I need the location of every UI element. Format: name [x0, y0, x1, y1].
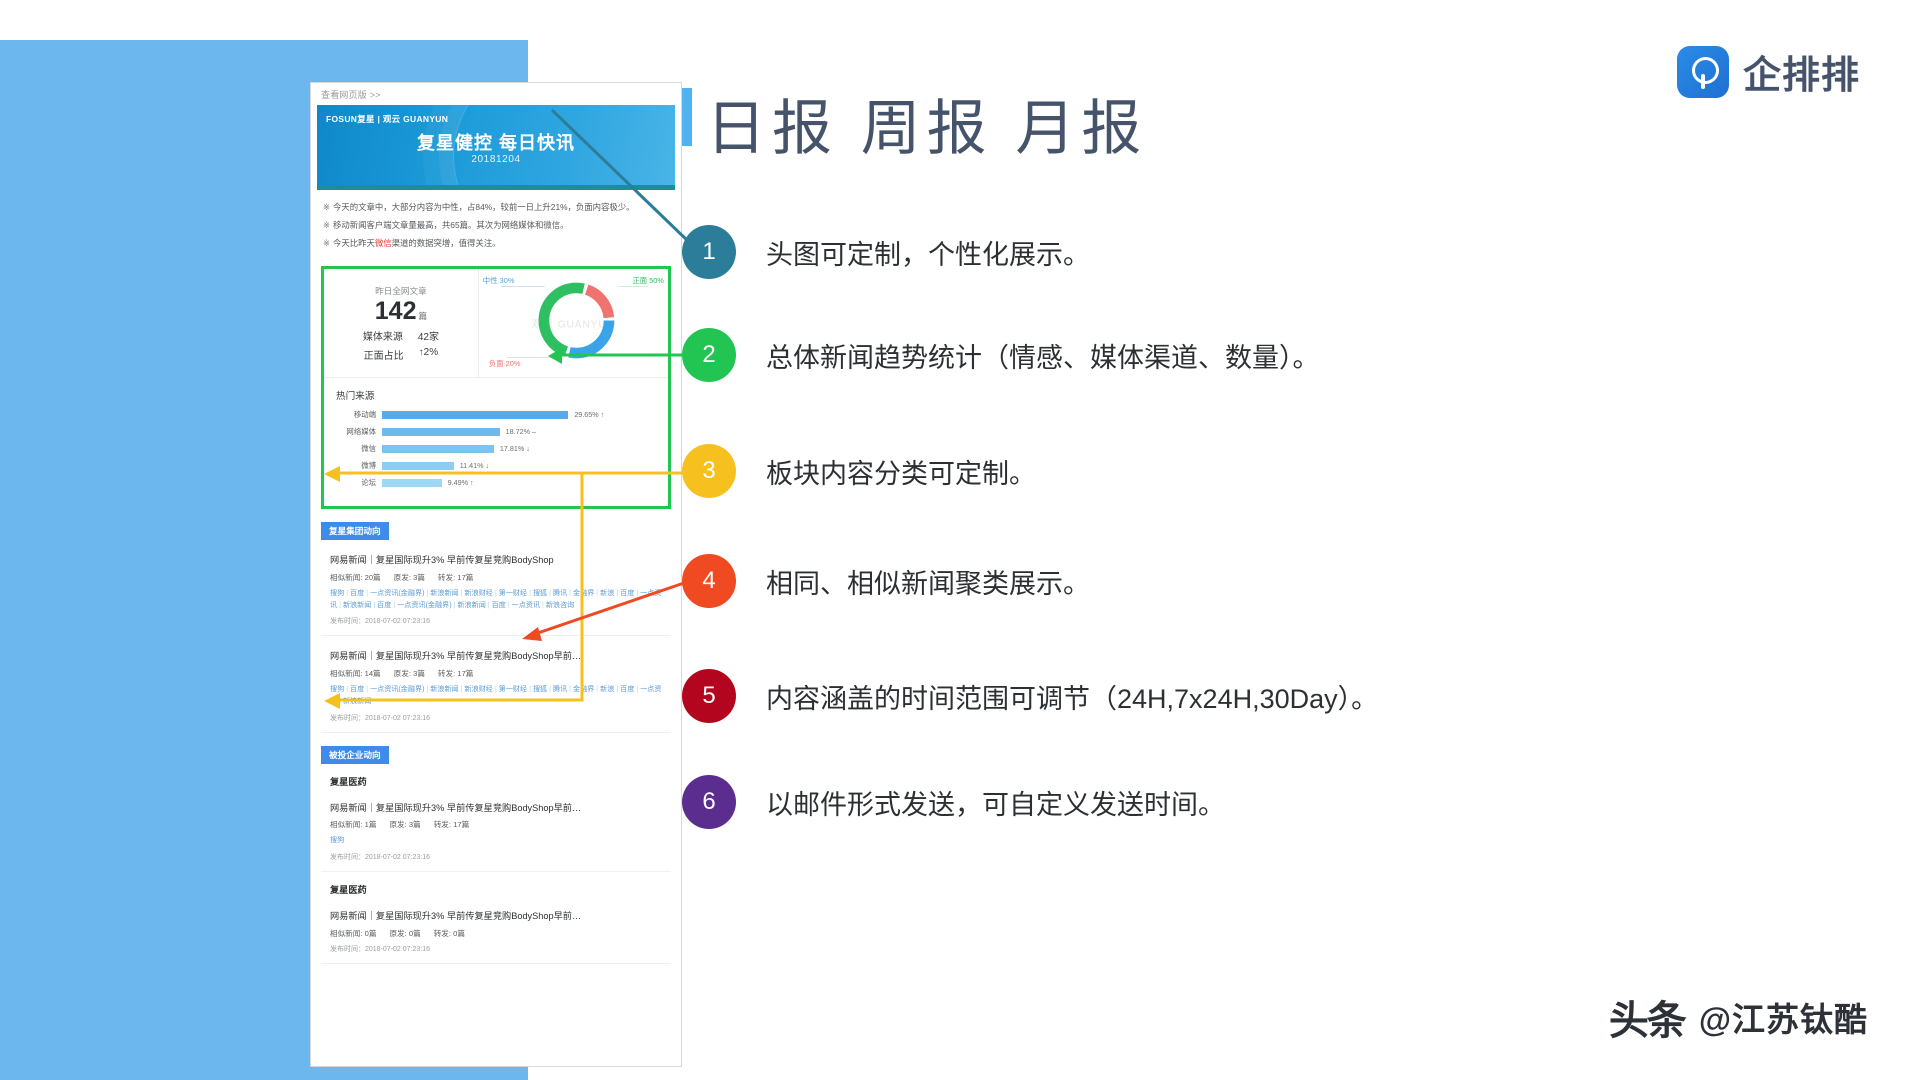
- bar-track: 17.81% ↓: [382, 445, 656, 453]
- bar-row: 网络媒体 18.72% –: [336, 426, 656, 437]
- footer-watermark: 头条 @江苏钛酷: [1609, 988, 1868, 1046]
- source-link[interactable]: 一点资讯(金融界): [370, 685, 424, 693]
- meta-similar: 相似新闻: 14篇: [330, 668, 381, 679]
- meta-repost: 转发: 17篇: [438, 572, 473, 583]
- feature-text: 头图可定制，个性化展示。: [766, 233, 1090, 272]
- news-meta: 相似新闻: 20篇 原发: 3篇 转发: 17篇: [330, 572, 662, 583]
- source-link[interactable]: 金融界: [573, 589, 594, 597]
- source-link[interactable]: 新浪新闻: [343, 601, 371, 609]
- news-publish-time: 发布时间：2018-07-02 07:23:16: [330, 713, 662, 723]
- feature-text: 内容涵盖的时间范围可调节（24H,7x24H,30Day）。: [766, 677, 1378, 716]
- source-link[interactable]: 搜狗: [330, 685, 344, 693]
- bar-value-label: 11.41% ↓: [460, 461, 489, 470]
- source-link[interactable]: 新浪咨询: [546, 601, 574, 609]
- news-publish-time: 发布时间：2018-07-02 07:23:16: [330, 852, 662, 862]
- bar-value-label: 9.49% ↑: [448, 478, 474, 487]
- source-link[interactable]: 一点资讯: [512, 601, 540, 609]
- banner-title: 复星健控 每日快讯: [317, 129, 675, 155]
- stats-card: 昨日全网文章 142篇 媒体来源 42家 正面占比 ↑2% 观云 GUANYUN: [321, 266, 671, 509]
- feature-item-6[interactable]: 6 以邮件形式发送，可自定义发送时间。: [682, 775, 1225, 829]
- feature-text: 板块内容分类可定制。: [766, 452, 1036, 491]
- bullet-text: 移动新闻客户端文章量最高，共65篇。其次为网络媒体和微信。: [333, 219, 568, 232]
- title-accent-bar: [682, 88, 692, 146]
- source-link[interactable]: 腾讯: [553, 685, 567, 693]
- feature-item-2[interactable]: 2 总体新闻趋势统计（情感、媒体渠道、数量）。: [682, 328, 1320, 382]
- news-source-links[interactable]: 搜狗|百度|一点资讯(金融界)|新浪新闻|新浪财经|第一财经|搜狐|腾讯|金融界…: [330, 588, 662, 611]
- meta-original: 原发: 0篇: [389, 928, 420, 939]
- stats-row-key: 正面占比: [364, 347, 410, 362]
- mock-topbar: 查看网页版 >>: [311, 83, 681, 105]
- bar-value-label: 18.72% –: [506, 427, 536, 436]
- source-link[interactable]: 第一财经: [499, 685, 527, 693]
- bar-row: 移动端 29.65% ↑: [336, 409, 656, 420]
- email-report-mock: 查看网页版 >> FOSUN复星 | 观云 GUANYUN 复星健控 每日快讯 …: [310, 82, 682, 1067]
- stats-big-number: 142: [375, 297, 417, 325]
- bar-fill: [382, 428, 500, 436]
- source-link[interactable]: 新浪新闻: [430, 685, 458, 693]
- decorative-white-notch: [0, 0, 528, 40]
- feature-badge: 4: [682, 554, 736, 608]
- feature-item-5[interactable]: 5 内容涵盖的时间范围可调节（24H,7x24H,30Day）。: [682, 669, 1378, 723]
- bar-row: 微博 11.41% ↓: [336, 460, 656, 471]
- meta-repost: 转发: 17篇: [434, 819, 469, 830]
- news-card[interactable]: 网易新闻｜复星国际现升3% 早前传复星竞购BodyShop早前… 相似新闻: 0…: [321, 903, 671, 964]
- donut-svg: [534, 278, 620, 364]
- feature-badge: 2: [682, 328, 736, 382]
- feature-badge: 3: [682, 444, 736, 498]
- source-link[interactable]: 百度: [350, 589, 364, 597]
- bullet-text: 今天比昨天微信渠道的数据突增，值得关注。: [333, 237, 501, 250]
- feature-text: 相同、相似新闻聚类展示。: [766, 562, 1090, 601]
- source-link[interactable]: 一点资讯(金融界): [370, 589, 424, 597]
- source-link[interactable]: 搜狗: [330, 836, 344, 844]
- toutiao-label: 头条: [1609, 988, 1685, 1046]
- author-handle: @江苏钛酷: [1699, 993, 1868, 1041]
- stats-label: 昨日全网文章: [375, 285, 427, 297]
- stats-summary: 昨日全网文章 142篇 媒体来源 42家 正面占比 ↑2%: [324, 269, 479, 377]
- news-title[interactable]: 网易新闻｜复星国际现升3% 早前传复星竞购BodyShop早前…: [330, 650, 662, 663]
- stats-top: 昨日全网文章 142篇 媒体来源 42家 正面占比 ↑2% 观云 GUANYUN: [324, 269, 668, 377]
- company-name: 复星医药: [330, 882, 681, 896]
- banner-date: 20181204: [317, 154, 675, 165]
- source-link[interactable]: 新浪新闻: [430, 589, 458, 597]
- news-meta: 相似新闻: 1篇 原发: 3篇 转发: 17篇: [330, 819, 662, 830]
- meta-similar: 相似新闻: 1篇: [330, 819, 376, 830]
- stats-big-wrap: 142篇: [375, 299, 427, 324]
- feature-text: 以邮件形式发送，可自定义发送时间。: [766, 783, 1225, 822]
- bar-track: 11.41% ↓: [382, 462, 656, 470]
- news-card[interactable]: 网易新闻｜复星国际现升3% 早前传复星竞购BodyShop早前… 相似新闻: 1…: [321, 795, 671, 873]
- donut-label-negative: 负面 20%: [489, 358, 521, 369]
- source-link[interactable]: 第一财经: [499, 589, 527, 597]
- meta-similar: 相似新闻: 0篇: [330, 928, 376, 939]
- source-link[interactable]: 搜狐: [533, 685, 547, 693]
- blue-strip-left: [0, 398, 310, 1080]
- stats-row-value: ↑2%: [419, 347, 438, 362]
- bar-category-label: 微博: [336, 460, 382, 471]
- source-link[interactable]: 一点资讯(金融界): [397, 601, 451, 609]
- feature-badge: 6: [682, 775, 736, 829]
- page-title: 日报 周报 月报: [706, 80, 1147, 167]
- meta-similar: 相似新闻: 20篇: [330, 572, 381, 583]
- feature-item-1[interactable]: 1 头图可定制，个性化展示。: [682, 225, 1090, 279]
- stats-row: 媒体来源 42家: [363, 328, 439, 343]
- meta-original: 原发: 3篇: [394, 572, 425, 583]
- company-name: 复星医药: [330, 774, 681, 788]
- source-link[interactable]: 百度: [350, 685, 364, 693]
- source-link[interactable]: 新浪新闻: [457, 601, 485, 609]
- donut-label-neutral: 中性 30%: [483, 275, 515, 286]
- source-link[interactable]: 搜狗: [330, 589, 344, 597]
- news-source-links[interactable]: 搜狗: [330, 835, 662, 847]
- bar-fill: [382, 411, 568, 419]
- summary-bullets: ※ 今天的文章中，大部分内容为中性，占84%，较前一日上升21%，负面内容极少。…: [311, 190, 681, 264]
- stats-row: 正面占比 ↑2%: [364, 347, 438, 362]
- meta-original: 原发: 3篇: [394, 668, 425, 679]
- bar-category-label: 论坛: [336, 477, 382, 488]
- feature-item-4[interactable]: 4 相同、相似新闻聚类展示。: [682, 554, 1090, 608]
- source-link[interactable]: 百度: [620, 589, 634, 597]
- bar-row: 微信 17.81% ↓: [336, 443, 656, 454]
- report-banner: FOSUN复星 | 观云 GUANYUN 复星健控 每日快讯 20181204: [317, 105, 675, 185]
- callout-line-neutral: [501, 286, 545, 287]
- source-link[interactable]: 搜狐: [533, 589, 547, 597]
- bullet-item: ※ 今天的文章中，大部分内容为中性，占84%，较前一日上升21%，负面内容极少。: [323, 201, 667, 214]
- news-publish-time: 发布时间：2018-07-02 07:23:16: [330, 616, 662, 626]
- bar-category-label: 微信: [336, 443, 382, 454]
- news-meta: 相似新闻: 0篇 原发: 0篇 转发: 0篇: [330, 928, 662, 939]
- feature-text: 总体新闻趋势统计（情感、媒体渠道、数量）。: [766, 336, 1320, 375]
- bar-category-label: 移动端: [336, 409, 382, 420]
- source-link[interactable]: 百度: [492, 601, 506, 609]
- meta-repost: 转发: 0篇: [434, 928, 465, 939]
- source-link[interactable]: 金融界: [573, 685, 594, 693]
- news-card[interactable]: 网易新闻｜复星国际现升3% 早前传复星竞购BodyShop 相似新闻: 20篇 …: [321, 547, 671, 636]
- bullet-text: 今天的文章中，大部分内容为中性，占84%，较前一日上升21%，负面内容极少。: [333, 201, 635, 214]
- source-link[interactable]: 百度: [620, 685, 634, 693]
- bullet-item: ※ 移动新闻客户端文章量最高，共65篇。其次为网络媒体和微信。: [323, 219, 667, 232]
- source-link[interactable]: 新浪: [600, 685, 614, 693]
- bar-fill: [382, 479, 442, 487]
- news-card[interactable]: 网易新闻｜复星国际现升3% 早前传复星竞购BodyShop早前… 相似新闻: 1…: [321, 643, 671, 732]
- source-link[interactable]: 新浪: [600, 589, 614, 597]
- bullet-mark-icon: ※: [323, 237, 330, 250]
- news-title[interactable]: 网易新闻｜复星国际现升3% 早前传复星竞购BodyShop: [330, 554, 662, 567]
- hot-sources-title: 热门来源: [336, 388, 656, 402]
- brand-logo: 企排排: [1677, 44, 1860, 99]
- news-publish-time: 发布时间：2018-07-02 07:23:16: [330, 944, 662, 954]
- brand-name: 企排排: [1743, 44, 1860, 99]
- hot-sources-chart: 热门来源 移动端 29.65% ↑ 网络媒体 18.72% – 微信 17.81…: [324, 377, 668, 506]
- news-source-links[interactable]: 搜狗|百度|一点资讯(金融界)|新浪新闻|新浪财经|第一财经|搜狐|腾讯|金融界…: [330, 684, 662, 707]
- source-link[interactable]: 新浪财经: [465, 589, 493, 597]
- section-tag-portfolio-trends[interactable]: 被投企业动向: [321, 746, 389, 764]
- bar-track: 29.65% ↑: [382, 411, 656, 419]
- bar-track: 18.72% –: [382, 428, 656, 436]
- meta-original: 原发: 3篇: [389, 819, 420, 830]
- source-link[interactable]: 腾讯: [553, 589, 567, 597]
- callout-line-positive: [618, 286, 648, 287]
- hot-sources-rows: 移动端 29.65% ↑ 网络媒体 18.72% – 微信 17.81% ↓ 微…: [336, 409, 656, 488]
- stats-row-value: 42家: [418, 328, 439, 343]
- bullet-mark-icon: ※: [323, 219, 330, 232]
- bar-row: 论坛 9.49% ↑: [336, 477, 656, 488]
- bar-fill: [382, 445, 494, 453]
- feature-item-3[interactable]: 3 板块内容分类可定制。: [682, 444, 1036, 498]
- section-tag-group-trends[interactable]: 复星集团动向: [321, 522, 389, 540]
- bullet-highlight: 微信: [375, 238, 392, 248]
- source-link[interactable]: 新浪新闻: [343, 697, 371, 705]
- bullet-mark-icon: ※: [323, 201, 330, 214]
- bar-category-label: 网络媒体: [336, 426, 382, 437]
- view-web-link[interactable]: 查看网页版 >>: [321, 88, 381, 101]
- bar-value-label: 17.81% ↓: [500, 444, 530, 453]
- banner-brand: FOSUN复星 | 观云 GUANYUN: [326, 113, 448, 125]
- bar-fill: [382, 462, 454, 470]
- qipaipai-logo-icon: [1677, 46, 1729, 98]
- feature-badge: 1: [682, 225, 736, 279]
- bar-value-label: 29.65% ↑: [574, 410, 604, 419]
- bar-track: 9.49% ↑: [382, 479, 656, 487]
- feature-badge: 5: [682, 669, 736, 723]
- news-meta: 相似新闻: 14篇 原发: 3篇 转发: 17篇: [330, 668, 662, 679]
- news-title[interactable]: 网易新闻｜复星国际现升3% 早前传复星竞购BodyShop早前…: [330, 802, 662, 815]
- stats-row-key: 媒体来源: [363, 328, 409, 343]
- sentiment-donut-chart: 观云 GUANYUN 中性 30% 正面 50% 负面 20%: [479, 269, 668, 377]
- source-link[interactable]: 百度: [377, 601, 391, 609]
- news-title[interactable]: 网易新闻｜复星国际现升3% 早前传复星竞购BodyShop早前…: [330, 910, 662, 923]
- source-link[interactable]: 新浪财经: [465, 685, 493, 693]
- bullet-item: ※ 今天比昨天微信渠道的数据突增，值得关注。: [323, 237, 667, 250]
- donut-svg-wrap: [534, 278, 620, 369]
- donut-label-positive: 正面 50%: [632, 275, 664, 286]
- meta-repost: 转发: 17篇: [438, 668, 473, 679]
- stats-big-unit: 篇: [419, 311, 428, 321]
